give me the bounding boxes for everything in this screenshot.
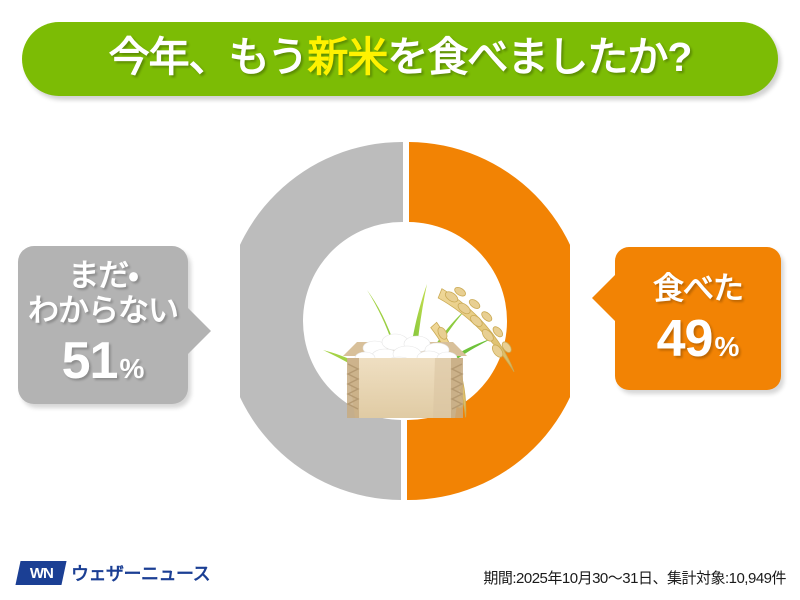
callout-right-number: 49 <box>657 313 713 365</box>
masu-box <box>343 334 467 418</box>
callout-left-percent-sign: % <box>119 355 144 383</box>
survey-period-note: 期間:2025年10月30〜31日、集計対象:10,949件 <box>483 567 786 588</box>
callout-left-label: まだ・ わからない <box>28 259 178 328</box>
title-suffix: を食べましたか? <box>387 34 691 80</box>
logo-wordmark: ウェザーニュース <box>71 560 210 586</box>
wn-mark-icon: WN <box>15 561 66 585</box>
callout-left-arrow-icon <box>188 308 211 354</box>
page-title: 今年、もう新米を食べましたか? <box>109 37 692 81</box>
title-banner: 今年、もう新米を食べましたか? <box>22 22 778 96</box>
weathernews-logo: WN ウェザーニュース <box>18 560 210 586</box>
wn-mark-text: WN <box>30 565 53 582</box>
callout-right-label: 食べた <box>653 272 743 307</box>
title-highlight: 新米 <box>307 34 387 80</box>
callout-left-mada-wakaranai: まだ・ わからない 51 % <box>18 246 188 404</box>
callout-right-percent-sign: % <box>714 333 739 361</box>
callout-right-tabeta: 食べた 49 % <box>615 247 781 390</box>
callout-right-value: 49 % <box>657 313 740 365</box>
callout-left-number: 51 <box>62 335 118 387</box>
title-prefix: 今年、もう <box>109 34 308 80</box>
donut-segment-gray <box>240 142 403 500</box>
callout-right-arrow-icon <box>592 275 615 321</box>
callout-left-value: 51 % <box>62 335 145 387</box>
donut-chart <box>240 132 570 510</box>
